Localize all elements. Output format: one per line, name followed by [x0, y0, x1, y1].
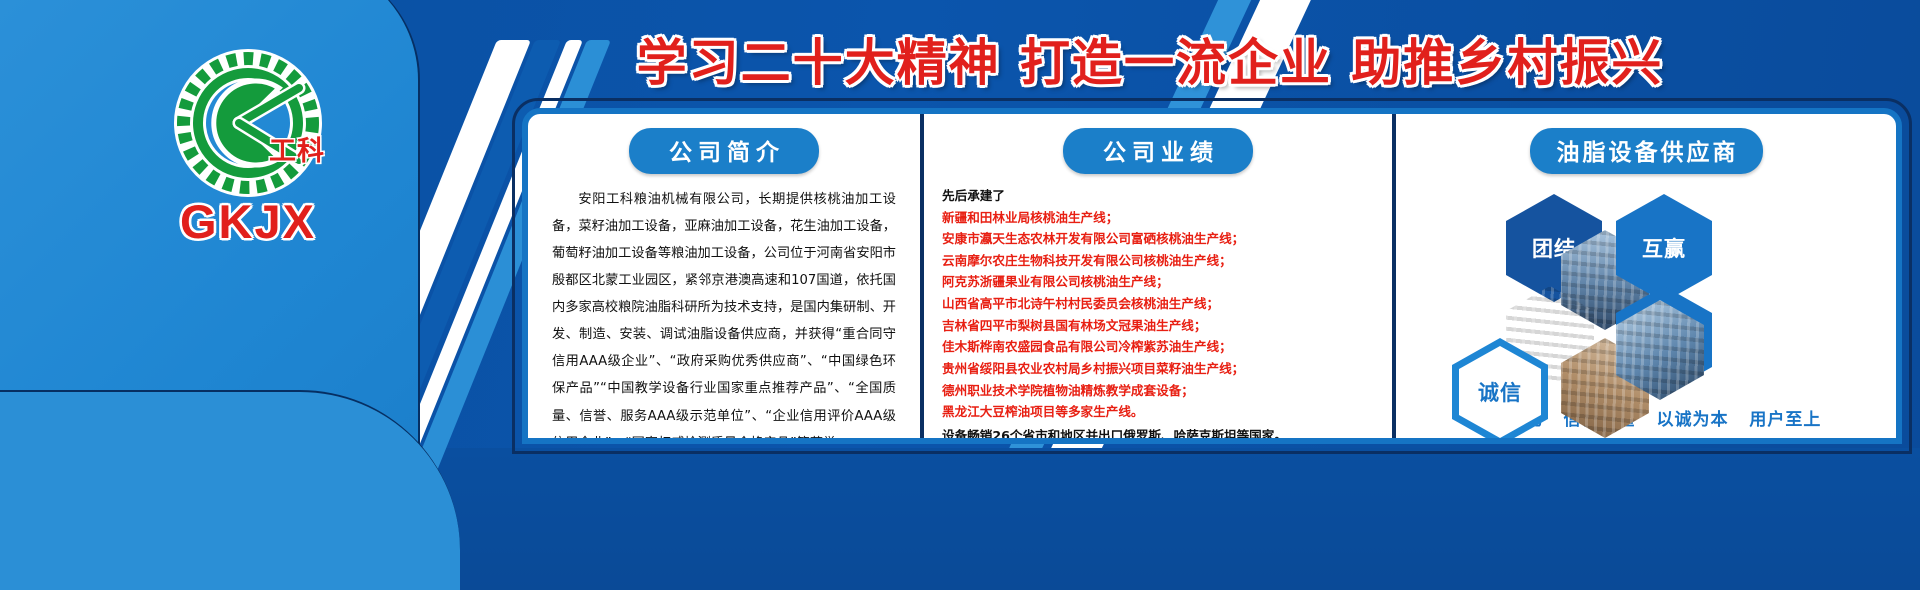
- panel-achievements-heading: 公司业绩: [1063, 128, 1253, 174]
- list-item: 云南摩尔农庄生物科技开发有限公司核桃油生产线；: [942, 250, 1374, 272]
- slogan-part: 以诚为本: [1656, 410, 1728, 430]
- list-item: 新疆和田林业局核桃油生产线；: [942, 207, 1374, 229]
- list-item: 黑龙江大豆榨油项目等多家生产线。: [942, 401, 1374, 423]
- achievements-footer: 设备畅销26个省市和地区并出口俄罗斯、哈萨克斯坦等国家。 企业始终坚持“专注质量…: [942, 423, 1374, 444]
- panel-intro-heading: 公司简介: [629, 128, 819, 174]
- banner: 学习二十大精神 打造一流企业 助推乡村振兴: [430, 16, 1870, 102]
- panel-company-achievements: 公司业绩 先后承建了 新疆和田林业局核桃油生产线； 安康市瀛天生态农林开发有限公…: [920, 114, 1392, 438]
- panel-supplier: 油脂设备供应商 团结 互赢 创新 诚信 质量为先 信誉为重 以诚为本: [1392, 114, 1896, 438]
- list-item: 安康市瀛天生态农林开发有限公司富硒核桃油生产线；: [942, 228, 1374, 250]
- achievements-intro: 先后承建了: [942, 186, 1374, 206]
- hex-cluster: 团结 互赢 创新 诚信: [1414, 188, 1878, 403]
- achievements-footer-line: 设备畅销26个省市和地区并出口俄罗斯、哈萨克斯坦等国家。: [942, 425, 1374, 444]
- panel-supplier-heading: 油脂设备供应商: [1530, 128, 1763, 174]
- company-logo: 工科 GKJX: [118, 48, 378, 248]
- list-item: 贵州省绥阳县农业农村局乡村振兴项目菜籽油生产线；: [942, 358, 1374, 380]
- logo-english-text: GKJX: [118, 194, 378, 249]
- list-item: 山西省高平市北诗午村村民委员会核桃油生产线；: [942, 293, 1374, 315]
- panel-intro-body: 安阳工科粮油机械有限公司，长期提供核桃油加工设备，菜籽油加工设备，亚麻油加工设备…: [546, 186, 902, 444]
- list-item: 阿克苏浙疆果业有限公司核桃油生产线；: [942, 271, 1374, 293]
- poster-board: 工科 GKJX 学习二十大精神 打造一流企业 助推乡村振兴 公司简介 安阳工科粮…: [0, 0, 1920, 590]
- logo-chinese-text: 工科: [269, 129, 325, 168]
- hex-integrity-label: 诚信: [1459, 346, 1541, 438]
- content-card: 公司简介 安阳工科粮油机械有限公司，长期提供核桃油加工设备，菜籽油加工设备，亚麻…: [522, 108, 1902, 444]
- list-item: 德州职业技术学院植物油精炼教学成套设备；: [942, 380, 1374, 402]
- bottom-left-curve: [0, 390, 460, 590]
- list-item: 佳木斯桦南农盛园食品有限公司冷榨紫苏油生产线；: [942, 336, 1374, 358]
- banner-title: 学习二十大精神 打造一流企业 助推乡村振兴: [637, 23, 1664, 95]
- gear-k-logo-icon: 工科: [173, 48, 323, 198]
- gear-icon: [173, 48, 323, 198]
- panel-company-intro: 公司简介 安阳工科粮油机械有限公司，长期提供核桃油加工设备，菜籽油加工设备，亚麻…: [528, 114, 920, 438]
- achievements-list: 新疆和田林业局核桃油生产线； 安康市瀛天生态农林开发有限公司富硒核桃油生产线； …: [942, 207, 1374, 424]
- slogan-part: 用户至上: [1749, 410, 1821, 430]
- list-item: 吉林省四平市梨树县国有林场文冠果油生产线；: [942, 315, 1374, 337]
